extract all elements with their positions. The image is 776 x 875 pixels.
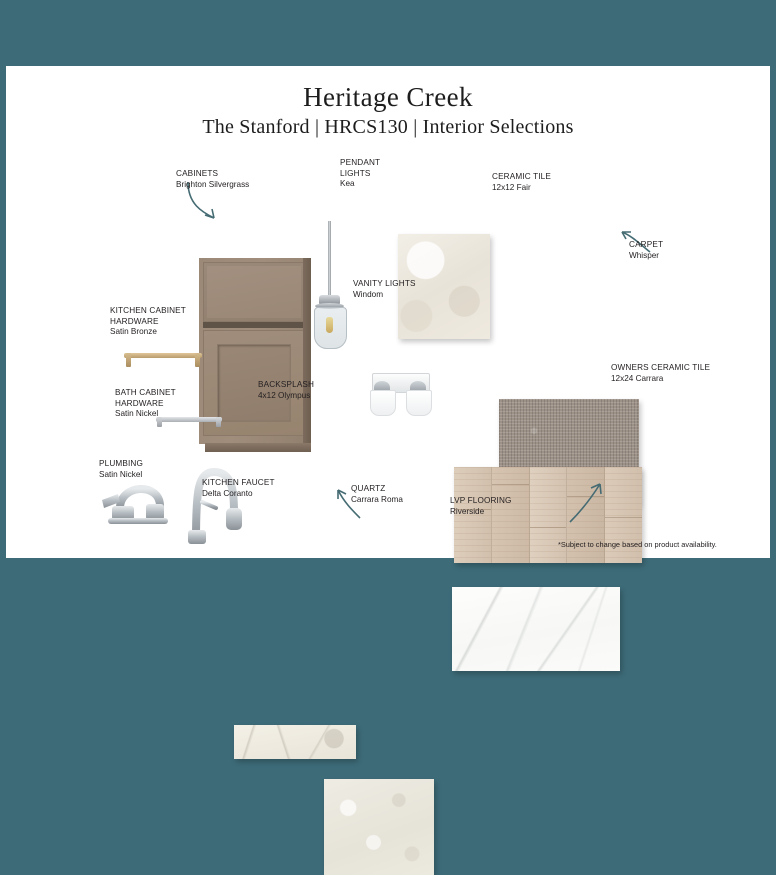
disclaimer-text: *Subject to change based on product avai… bbox=[558, 540, 717, 551]
swatch-kitchen-cabinet-hardware[interactable] bbox=[124, 349, 202, 369]
bottom-border-bar bbox=[0, 558, 776, 600]
pull-foot-right bbox=[195, 353, 200, 367]
label-carpet: CARPET Whisper bbox=[629, 240, 663, 261]
pendant-rod bbox=[328, 221, 331, 299]
label-backsplash: BACKSPLASH 4x12 Olympus bbox=[258, 380, 314, 401]
label-kitchen-cabinet-hardware: KITCHEN CABINET HARDWARE Satin Bronze bbox=[110, 306, 186, 338]
pendant-bulb bbox=[326, 317, 333, 333]
label-bath-cabinet-hardware: BATH CABINET HARDWARE Satin Nickel bbox=[115, 388, 176, 420]
label-kitchen-faucet: KITCHEN FAUCET Delta Coranto bbox=[202, 478, 275, 499]
label-ceramic-tile: CERAMIC TILE 12x12 Fair bbox=[492, 172, 551, 193]
page-title: Heritage Creek bbox=[6, 82, 770, 113]
swatch-backsplash[interactable] bbox=[234, 725, 356, 759]
pull-foot-left bbox=[126, 353, 131, 367]
selections-board: Heritage Creek The Stanford | HRCS130 | … bbox=[6, 66, 770, 558]
label-pendant-lights: PENDANT LIGHTS Kea bbox=[340, 158, 380, 190]
swatch-quartz[interactable] bbox=[324, 779, 434, 875]
cabinet-reveal bbox=[203, 322, 305, 328]
right-border-bar bbox=[770, 0, 776, 600]
vanity-shade-left bbox=[370, 390, 396, 416]
cabinet-toe-kick bbox=[205, 443, 311, 452]
swatch-pendant-lights[interactable] bbox=[306, 221, 354, 351]
label-vanity-lights: VANITY LIGHTS Windom bbox=[353, 279, 416, 300]
top-border-bar bbox=[0, 0, 776, 66]
swatch-kitchen-faucet[interactable] bbox=[182, 456, 248, 548]
pull-bar bbox=[124, 353, 202, 358]
cabinet-drawer-front bbox=[203, 262, 305, 322]
vanity-shade-right bbox=[406, 390, 432, 416]
label-owners-ceramic-tile: OWNERS CERAMIC TILE 12x24 Carrara bbox=[611, 363, 710, 384]
pull-foot-right bbox=[216, 417, 221, 427]
swatch-vanity-lights[interactable] bbox=[354, 369, 446, 417]
page-subtitle: The Stanford | HRCS130 | Interior Select… bbox=[6, 116, 770, 139]
label-plumbing: PLUMBING Satin Nickel bbox=[99, 459, 143, 480]
label-lvp-flooring: LVP FLOORING Riverside bbox=[450, 496, 512, 517]
label-quartz: QUARTZ Carrara Roma bbox=[351, 484, 403, 505]
label-cabinets: CABINETS Brighton Silvergrass bbox=[176, 169, 249, 190]
